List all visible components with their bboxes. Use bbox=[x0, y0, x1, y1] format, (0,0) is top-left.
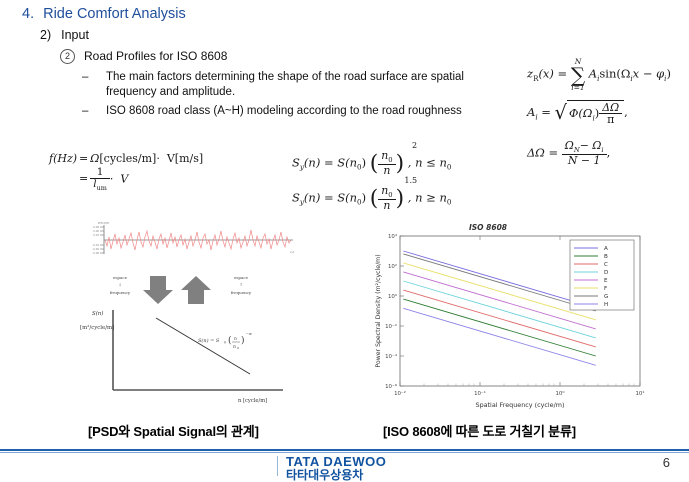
eq-psd-low-s0: S(n bbox=[337, 155, 357, 169]
svg-text:(: ( bbox=[228, 335, 232, 346]
radicand: Φ(Ωi)ΔΩπ bbox=[567, 100, 624, 126]
eq-freq-units-2: [m/s] bbox=[175, 152, 203, 165]
eq-psd-low-s0-close: ) bbox=[362, 155, 367, 169]
legend-label-D: D bbox=[604, 270, 608, 276]
eq-psd-low-condition: , n ≤ n bbox=[408, 155, 447, 169]
arrow-down-icon bbox=[143, 276, 173, 304]
legend-label-G: G bbox=[604, 294, 608, 300]
legend-label-E: E bbox=[604, 278, 608, 284]
eq-psd-low-exponent: 2 bbox=[412, 141, 417, 150]
y-tick-label: 10⁻⁴ bbox=[385, 353, 397, 360]
eq-ai-phi: Φ(Ω bbox=[569, 106, 592, 120]
road-profile-signal-plot: 0.080.060.04 -0.04-0.06-0.08 y(x),y(t) x… bbox=[92, 222, 294, 255]
eq-freq-den-sub: um bbox=[97, 184, 107, 192]
logo-text-kr: 타타대우상용차 bbox=[286, 469, 386, 481]
arrow-down-label-top: espace bbox=[113, 275, 128, 280]
signal-y-ticks: 0.080.060.04 -0.04-0.06-0.08 bbox=[92, 225, 99, 255]
eq-freq-equals-2: = bbox=[78, 165, 89, 192]
page-title: 4.Ride Comfort Analysis bbox=[22, 6, 186, 22]
eq-domega-num-b-sub: i bbox=[601, 146, 603, 154]
company-logo: TATA DAEWOO 타타대우상용차 bbox=[286, 456, 386, 481]
logo-text-en: TATA DAEWOO bbox=[286, 456, 386, 467]
eq-freq-velocity: V bbox=[120, 172, 128, 185]
chart-x-tick-labels: 10⁻² 10⁻¹ 10⁰ 10¹ bbox=[394, 390, 644, 397]
legend-label-F: F bbox=[604, 286, 607, 292]
eq-zr-close: ) bbox=[666, 67, 671, 81]
slide-canvas: 4.Ride Comfort Analysis 2)Input 2Road Pr… bbox=[0, 0, 689, 479]
eq-freq-units-1: [cycles/m]· bbox=[99, 152, 159, 165]
eq-psd-high-ratio: n0n bbox=[378, 185, 395, 212]
eq-freq-numerator: 1 bbox=[90, 167, 110, 178]
psd-ylabel-top: S(n) bbox=[92, 310, 103, 317]
equation-frequency: f(Hz) = Ω[cycles/m]· V[m/s] = 1 lum · V bbox=[48, 152, 204, 192]
psd-xlabel: n [cycle/m] bbox=[238, 398, 267, 404]
arrow-down-labels: espace ↓ frequency bbox=[110, 275, 131, 295]
eq-ai-trailing-comma: , bbox=[624, 105, 628, 119]
y-tick-label: 10⁻⁶ bbox=[385, 383, 397, 390]
eq-psd-high-cond-sub: 0 bbox=[447, 198, 452, 207]
eq-zr-amp: A bbox=[589, 67, 597, 81]
svg-text:): ) bbox=[241, 335, 245, 346]
eq-freq-v: V bbox=[167, 152, 175, 165]
arrow-up-labels: espace ↑ frequency bbox=[231, 275, 252, 295]
x-tick-label: 10⁰ bbox=[555, 390, 564, 397]
y-tick-label: 10⁰ bbox=[388, 293, 397, 300]
left-figure-caption: [PSD와 Spatial Signal의 관계] bbox=[88, 421, 259, 440]
iso8608-chart-svg: ISO 8608 10⁴ 10² 10⁰ 10⁻² 10⁻⁴ 10⁻⁶ bbox=[368, 218, 668, 418]
eq-domega-fraction: ΩN− Ωi N − 1 bbox=[562, 140, 607, 167]
summation-symbol: N ∑ i=1 bbox=[571, 58, 585, 91]
chart-legend[interactable]: ABCDEFGH bbox=[570, 240, 634, 310]
bullet-text: The main factors determining the shape o… bbox=[106, 71, 464, 98]
svg-text:n: n bbox=[234, 337, 237, 342]
ratio-num-sub: 0 bbox=[388, 156, 392, 164]
eq-psd-low-power-group: (n0n) 2 bbox=[370, 150, 404, 177]
eq-psd-low-s: S bbox=[292, 155, 300, 169]
eq-freq-equals-1: = bbox=[78, 152, 89, 165]
chart-xlabel: Spatial Frequency (cycle/m) bbox=[476, 401, 565, 409]
eq-psd-low-ratio: n0n bbox=[378, 150, 395, 177]
eq-psd-high-exponent: 1.5 bbox=[404, 176, 417, 185]
equation-delta-omega: ΔΩ = ΩN− Ωi N − 1 , bbox=[527, 140, 610, 167]
x-tick-label: 10¹ bbox=[635, 390, 644, 397]
page-number: 6 bbox=[663, 455, 670, 470]
footer-rule bbox=[0, 449, 689, 451]
arrow-up-label-mid: ↑ bbox=[239, 282, 242, 287]
eq-ai-num: ΔΩ bbox=[599, 102, 622, 113]
eq-freq-fraction: 1 lum bbox=[90, 167, 110, 192]
left-figure-svg: 0.080.060.04 -0.04-0.06-0.08 y(x),y(t) x… bbox=[78, 222, 368, 422]
radical-glyph: √ bbox=[555, 101, 567, 124]
equation-amplitude: Ai = √ Φ(Ωi)ΔΩπ , bbox=[527, 100, 628, 126]
equation-road-profile: zR(x) = N ∑ i=1 Aisin(Ωix − φi) bbox=[527, 58, 671, 91]
circled-number-icon: 2 bbox=[60, 49, 75, 64]
transform-arrows-group: espace ↓ frequency espace ↑ frequency bbox=[110, 275, 252, 304]
footer-rule-secondary bbox=[0, 452, 689, 453]
right-figure-caption: [ISO 8608에 따른 도로 거칠기 분류] bbox=[383, 421, 576, 440]
legend-label-H: H bbox=[604, 302, 608, 308]
arrow-up-icon bbox=[181, 276, 211, 304]
paren-close: ) bbox=[396, 186, 405, 211]
eq-ai-equals: = bbox=[541, 105, 551, 119]
equation-psd-high: Sy(n) = S(n0) (n0n) 1.5 , n ≥ n0 bbox=[292, 185, 451, 212]
svg-text:0.06: 0.06 bbox=[93, 229, 99, 233]
arrow-down-label-bot: frequency bbox=[110, 290, 131, 295]
outline-level2: 2)Input bbox=[40, 28, 89, 42]
paren-open: ( bbox=[370, 186, 379, 211]
arrow-down-label-mid: ↓ bbox=[118, 282, 121, 287]
square-root-symbol: √ Φ(Ωi)ΔΩπ bbox=[555, 100, 625, 126]
y-tick-label: 10⁻² bbox=[385, 323, 397, 330]
signal-axis-label: y(x),y(t) bbox=[97, 222, 109, 225]
eq-domega-equals: = bbox=[549, 145, 559, 159]
arrow-up-label-bot: frequency bbox=[231, 290, 252, 295]
eq-psd-high-s0-close: ) bbox=[362, 190, 367, 204]
svg-text:0: 0 bbox=[224, 341, 226, 345]
paren-close: ) bbox=[396, 151, 405, 176]
equation-psd-low: Sy(n) = S(n0) (n0n) 2 , n ≤ n0 bbox=[292, 150, 451, 177]
chart-ylabel: Power Spectral Density (m²/cycle/m) bbox=[375, 254, 382, 367]
y-tick-label: 10⁴ bbox=[388, 233, 397, 240]
psd-spatial-signal-diagram: 0.080.060.04 -0.04-0.06-0.08 y(x),y(t) x… bbox=[78, 222, 368, 422]
ratio-denominator: n bbox=[378, 199, 395, 211]
chart-y-tick-labels: 10⁴ 10² 10⁰ 10⁻² 10⁻⁴ 10⁻⁶ bbox=[385, 233, 397, 390]
eq-freq-dot: · bbox=[110, 172, 114, 185]
eq-domega-lhs: ΔΩ bbox=[527, 145, 545, 159]
sum-lower-limit: i=1 bbox=[571, 84, 585, 92]
eq-psd-high-power-group: (n0n) 1.5 bbox=[370, 185, 404, 212]
eq-psd-high-s0: S(n bbox=[337, 190, 357, 204]
bullet-dash-icon: – bbox=[82, 70, 88, 85]
legend-label-C: C bbox=[604, 262, 608, 268]
eq-psd-high-condition: , n ≥ n bbox=[408, 190, 447, 204]
svg-text:-0.08: -0.08 bbox=[92, 251, 99, 255]
legend-label-A: A bbox=[604, 246, 608, 252]
eq-domega-trailing-comma: , bbox=[607, 145, 611, 159]
outline-level2-text: Input bbox=[61, 28, 89, 42]
legend-box bbox=[570, 240, 634, 310]
svg-text:0.04: 0.04 bbox=[93, 233, 99, 237]
page-title-number: 4. bbox=[22, 6, 34, 22]
svg-text:-0.06: -0.06 bbox=[92, 247, 99, 251]
eq-psd-low-cond-sub: 0 bbox=[447, 163, 452, 172]
bullet-dash-icon: – bbox=[82, 104, 88, 119]
y-tick-label: 10² bbox=[388, 263, 397, 270]
eq-psd-high-arg: (n) = bbox=[304, 190, 334, 204]
eq-domega-denominator: N − 1 bbox=[562, 154, 607, 166]
arrow-up-label-top: espace bbox=[234, 275, 249, 280]
bullet-item: – ISO 8608 road class (A~H) modeling acc… bbox=[106, 104, 506, 119]
outline-level3-text: Road Profiles for ISO 8608 bbox=[84, 49, 227, 63]
eq-ai-den: π bbox=[599, 113, 622, 125]
legend-label-B: B bbox=[604, 254, 608, 260]
eq-zr-arg: (x) = bbox=[538, 67, 567, 81]
bullet-text: ISO 8608 road class (A~H) modeling accor… bbox=[106, 105, 462, 117]
svg-text:0: 0 bbox=[237, 346, 239, 350]
eq-zr-rest: x − φ bbox=[633, 67, 665, 81]
logo-divider bbox=[277, 456, 278, 476]
paren-open: ( bbox=[370, 151, 379, 176]
x-tick-label: 10⁻² bbox=[394, 390, 406, 397]
eq-zr-sin: sin(Ω bbox=[599, 67, 630, 81]
ratio-numerator: n0 bbox=[378, 185, 395, 199]
chart-title: ISO 8608 bbox=[469, 223, 507, 232]
ratio-num-sub: 0 bbox=[388, 191, 392, 199]
svg-text:-0.04: -0.04 bbox=[92, 243, 99, 247]
ratio-denominator: n bbox=[378, 164, 395, 176]
bullet-item: – The main factors determining the shape… bbox=[106, 70, 506, 100]
svg-text:−w: −w bbox=[246, 332, 252, 336]
eq-freq-denominator: lum bbox=[90, 178, 110, 192]
sum-sigma-glyph: ∑ bbox=[571, 66, 585, 84]
eq-psd-low-arg: (n) = bbox=[304, 155, 334, 169]
page-title-text: Ride Comfort Analysis bbox=[43, 6, 186, 22]
eq-psd-high-s: S bbox=[292, 190, 300, 204]
eq-ai-lhs-sub: i bbox=[535, 112, 537, 121]
psd-schematic-plot: S(n) [m²/cycle/m] n [cycle/m] S(n) = S 0… bbox=[80, 310, 283, 404]
svg-text:n: n bbox=[233, 345, 236, 350]
signal-x-label: x,t bbox=[290, 250, 295, 254]
eq-domega-num-b: − Ω bbox=[580, 139, 602, 152]
iso8608-chart: ISO 8608 10⁴ 10² 10⁰ 10⁻² 10⁻⁴ 10⁻⁶ bbox=[368, 218, 668, 418]
outline-level3: 2Road Profiles for ISO 8608 bbox=[60, 49, 227, 64]
eq-ai-fraction: ΔΩπ bbox=[599, 102, 622, 126]
svg-text:0.08: 0.08 bbox=[93, 225, 99, 229]
outline-level2-number: 2) bbox=[40, 28, 51, 42]
eq-domega-num-a: Ω bbox=[565, 139, 574, 152]
psd-ylabel-units: [m²/cycle/m] bbox=[80, 324, 114, 331]
svg-text:S(n) = S: S(n) = S bbox=[198, 337, 220, 344]
ratio-numerator: n0 bbox=[378, 150, 395, 164]
x-tick-label: 10⁻¹ bbox=[474, 390, 486, 397]
eq-freq-lhs: f(Hz) bbox=[48, 152, 78, 165]
eq-domega-numerator: ΩN− Ωi bbox=[562, 140, 607, 154]
